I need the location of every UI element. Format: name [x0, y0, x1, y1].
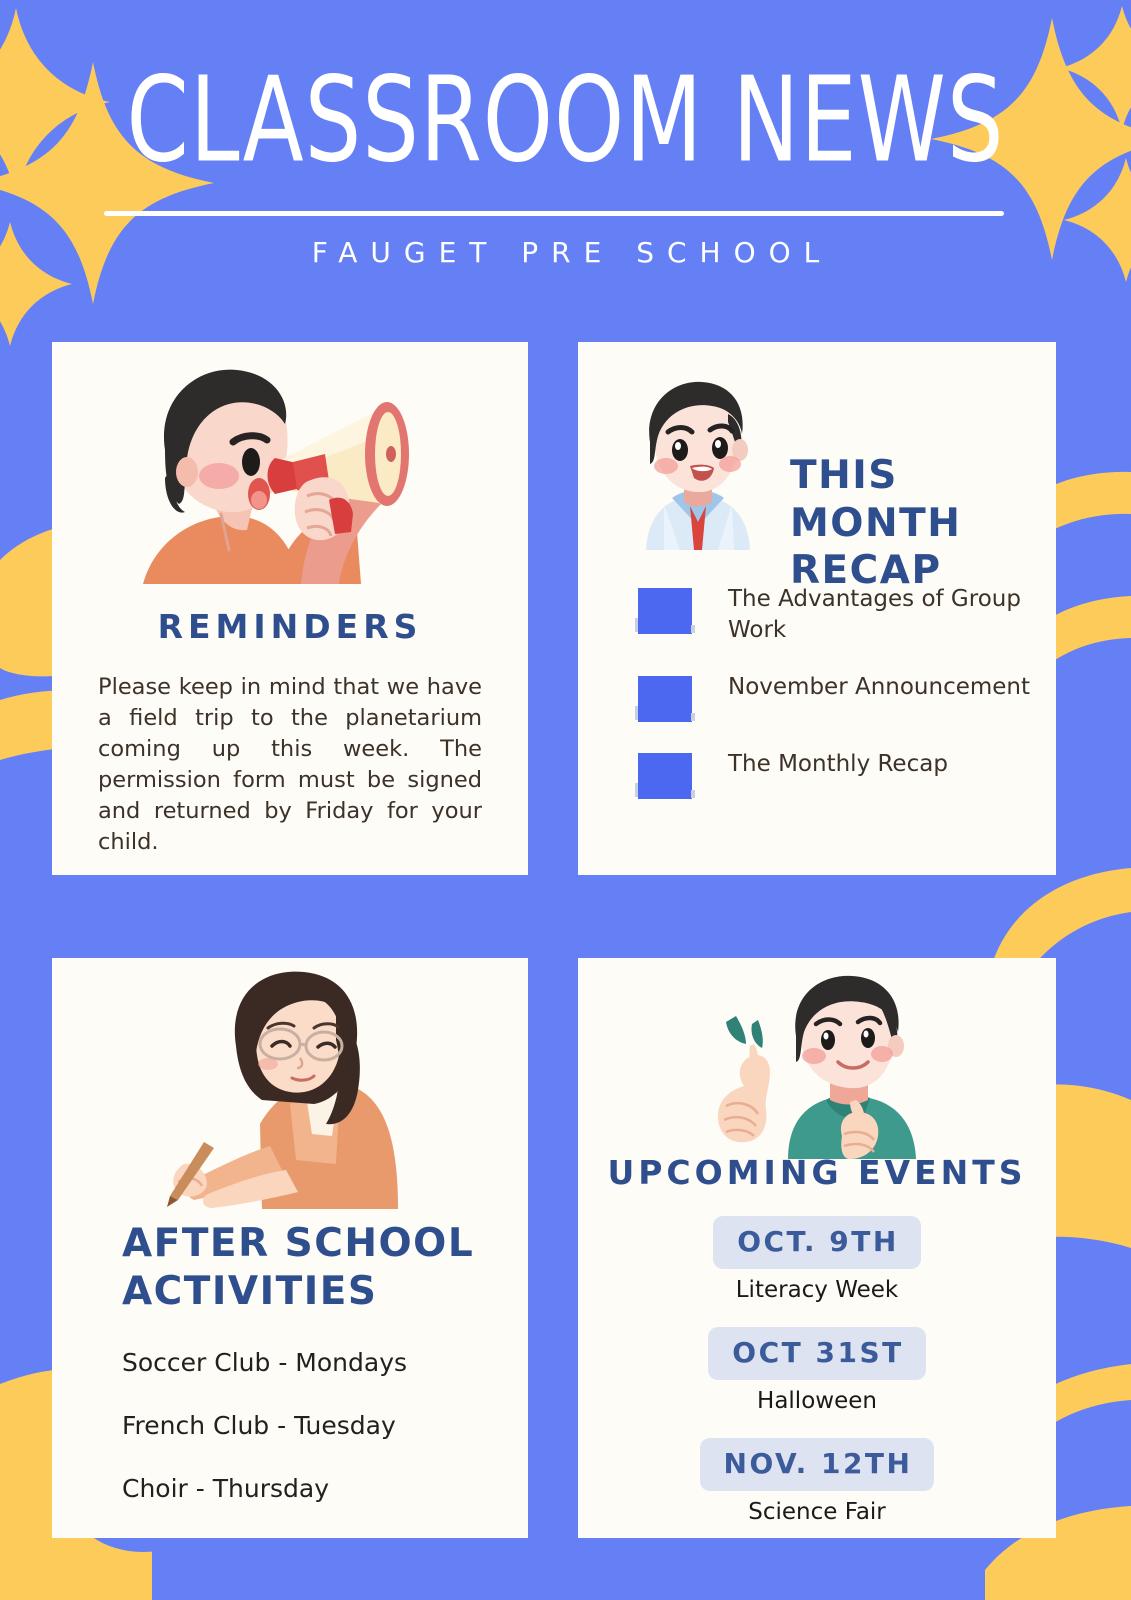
- event-label: Science Fair: [578, 1499, 1056, 1525]
- square-bullet-icon: [638, 676, 692, 722]
- event-entry: OCT 31ST Halloween: [578, 1327, 1056, 1414]
- reminders-card: REMINDERS Please keep in mind that we ha…: [52, 342, 528, 875]
- activities-title-line1: AFTER SCHOOL: [122, 1220, 512, 1268]
- recap-list: The Advantages of Group Work November An…: [638, 584, 1038, 826]
- recap-header: THIS MONTH RECAP: [606, 380, 1036, 560]
- events-list: OCT. 9TH Literacy Week OCT 31ST Hallowee…: [578, 1216, 1056, 1538]
- recap-item-label: November Announcement: [728, 672, 1030, 703]
- classroom-news-poster: CLASSROOM NEWS FAUGET PRE SCHOOL: [0, 0, 1131, 1600]
- reminders-body: Please keep in mind that we have a field…: [98, 672, 482, 858]
- event-label: Halloween: [578, 1388, 1056, 1414]
- activities-title-line2: ACTIVITIES: [122, 1268, 512, 1316]
- page-title: CLASSROOM NEWS: [17, 62, 1114, 180]
- event-entry: OCT. 9TH Literacy Week: [578, 1216, 1056, 1303]
- list-item: The Advantages of Group Work: [638, 584, 1038, 645]
- recap-item-label: The Monthly Recap: [728, 749, 948, 780]
- recap-title-line1: THIS MONTH: [790, 452, 1040, 547]
- events-title-text: UPCOMING EVENTS: [607, 1153, 1026, 1192]
- list-item: French Club - Tuesday: [122, 1411, 512, 1440]
- activities-card: AFTER SCHOOL ACTIVITIES Soccer Club - Mo…: [52, 958, 528, 1538]
- event-date-chip: NOV. 12TH: [700, 1438, 935, 1491]
- list-item: The Monthly Recap: [638, 749, 1038, 799]
- list-item: Soccer Club - Mondays: [122, 1348, 512, 1377]
- activities-title: AFTER SCHOOL ACTIVITIES: [122, 1220, 512, 1315]
- event-label: Literacy Week: [578, 1277, 1056, 1303]
- teacher-writing-illustration: [52, 964, 528, 1214]
- recap-item-label: The Advantages of Group Work: [728, 584, 1038, 645]
- reminders-title: REMINDERS: [52, 608, 528, 647]
- school-subtitle: FAUGET PRE SCHOOL: [0, 236, 1131, 269]
- schoolboy-avatar-illustration: [628, 380, 768, 550]
- events-title: UPCOMING EVENTS: [578, 1154, 1056, 1193]
- poster-header: CLASSROOM NEWS FAUGET PRE SCHOOL: [0, 0, 1131, 320]
- events-card: UPCOMING EVENTS OCT. 9TH Literacy Week O…: [578, 958, 1056, 1538]
- square-bullet-icon: [638, 588, 692, 634]
- megaphone-person-illustration: [52, 354, 528, 594]
- event-entry: NOV. 12TH Science Fair: [578, 1438, 1056, 1525]
- list-item: Choir - Thursday: [122, 1474, 512, 1503]
- title-divider: [104, 211, 1004, 216]
- recap-card: THIS MONTH RECAP The Advantages of Group…: [578, 342, 1056, 875]
- square-bullet-icon: [638, 753, 692, 799]
- recap-title: THIS MONTH RECAP: [790, 452, 1040, 595]
- thumbs-up-boy-illustration: [578, 974, 1056, 1164]
- list-item: November Announcement: [638, 672, 1038, 722]
- activities-list: Soccer Club - Mondays French Club - Tues…: [122, 1348, 512, 1537]
- event-date-chip: OCT. 9TH: [713, 1216, 921, 1269]
- event-date-chip: OCT 31ST: [708, 1327, 925, 1380]
